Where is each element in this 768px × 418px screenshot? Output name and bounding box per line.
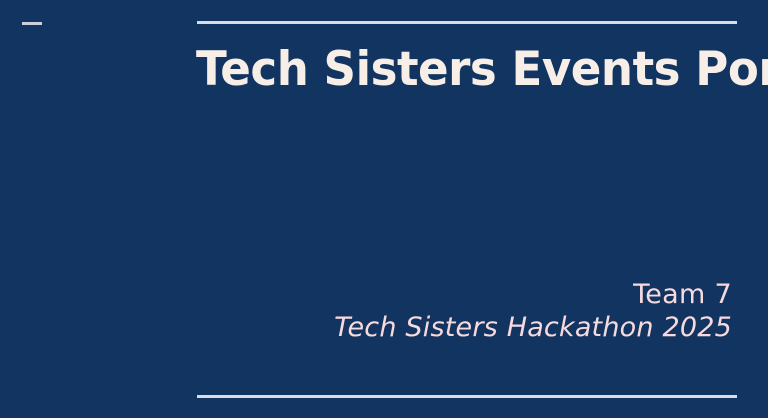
event-label: Tech Sisters Hackathon 2025 [132,312,732,344]
page-title: Tech Sisters Events Portal [196,44,714,97]
credit-block: Team 7 Tech Sisters Hackathon 2025 [132,279,732,344]
title-slide: Tech Sisters Events Portal Team 7 Tech S… [0,0,768,418]
team-label: Team 7 [132,279,732,311]
bottom-divider [197,395,737,398]
top-divider [197,21,737,24]
dash-icon [22,22,42,25]
